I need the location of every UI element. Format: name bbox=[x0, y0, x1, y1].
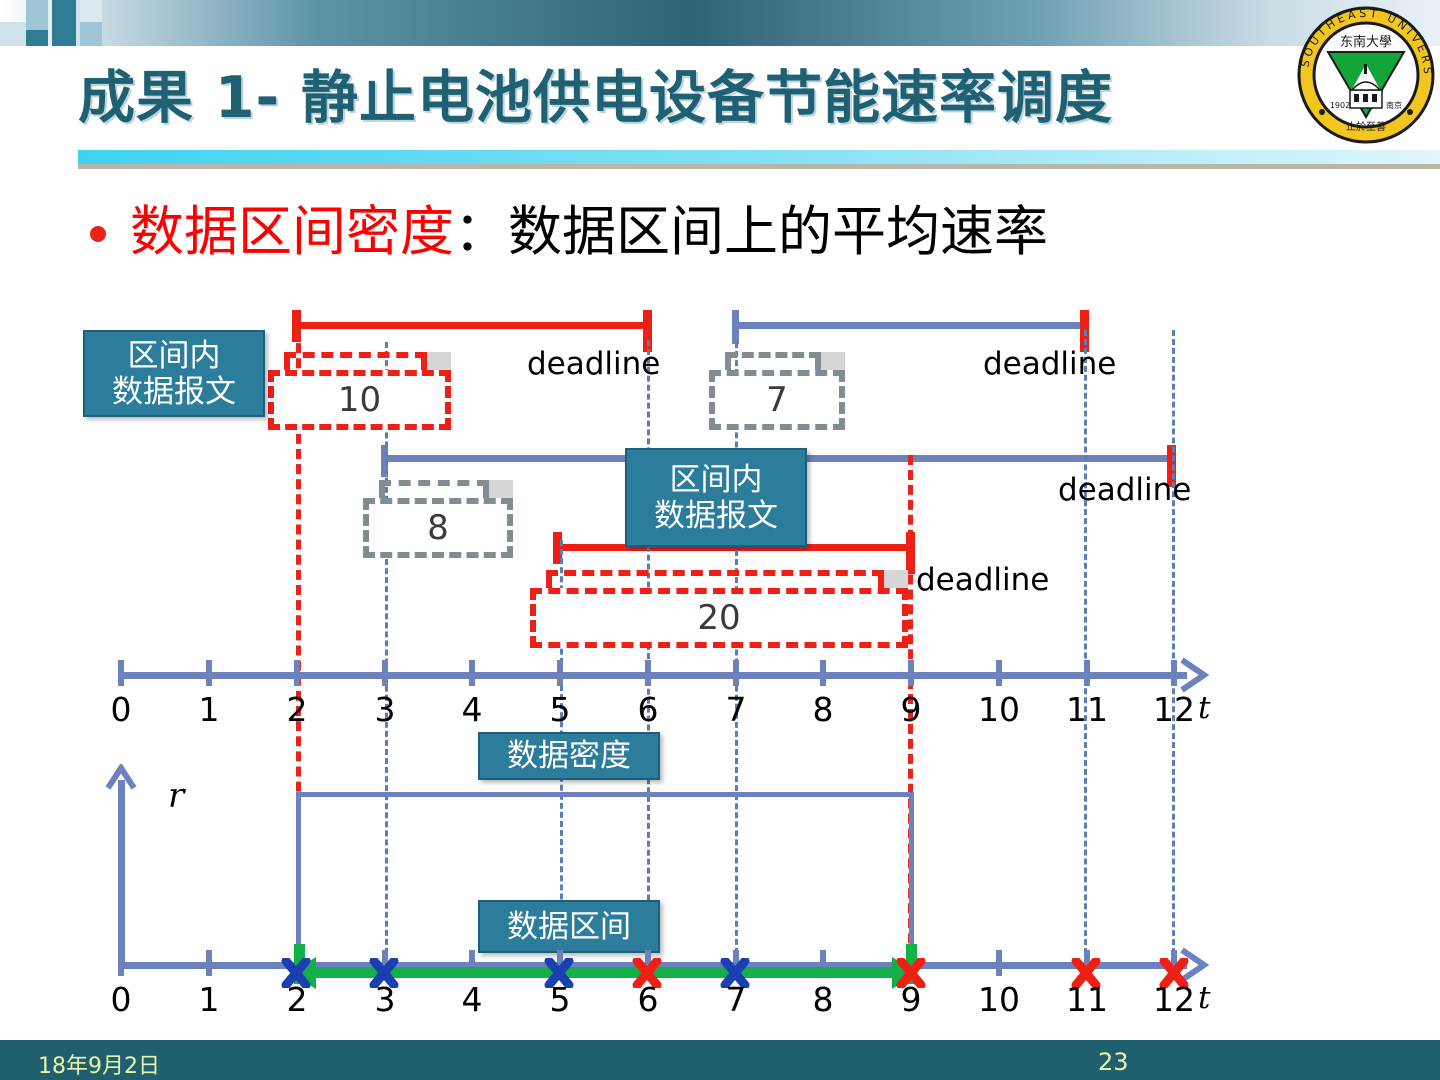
deadline-label-job2: deadline bbox=[983, 346, 1091, 383]
lower-ticklabel-12: 12 bbox=[1152, 980, 1196, 1019]
timeline-diagram: 10 7 8 20 deadline deadline deadline dea… bbox=[0, 290, 1440, 1030]
deco-square-3 bbox=[80, 0, 102, 22]
deco-square-2 bbox=[52, 0, 76, 46]
lower-ticklabel-6: 6 bbox=[626, 980, 670, 1019]
density-step-left-riser bbox=[296, 792, 301, 964]
packet-box-7-lid bbox=[725, 352, 821, 372]
lower-axis-label-t: t bbox=[1198, 980, 1210, 1016]
callout-1-line1: 区间内 bbox=[128, 338, 221, 374]
deco-square-1 bbox=[26, 0, 48, 30]
upper-tick-5 bbox=[557, 660, 563, 686]
footer-date: 18年9月2日 bbox=[38, 1048, 160, 1080]
svg-text:南京: 南京 bbox=[1386, 100, 1402, 110]
job2-span-bar bbox=[735, 322, 1085, 329]
university-logo: 东南大學 1902 南京 止於至善 SOUTHEAST UNIVERSITY bbox=[1296, 2, 1436, 148]
lower-ticklabel-0: 0 bbox=[99, 980, 143, 1019]
upper-ticklabel-7: 7 bbox=[714, 690, 758, 729]
upper-ticklabel-4: 4 bbox=[450, 690, 494, 729]
upper-tick-1 bbox=[206, 660, 212, 686]
title-underline bbox=[78, 150, 1440, 164]
callout-2-line2: 数据报文 bbox=[654, 498, 778, 534]
header-band bbox=[0, 0, 1440, 46]
upper-tick-9 bbox=[908, 660, 914, 686]
lower-r-axis bbox=[118, 780, 125, 962]
lower-ticklabel-11: 11 bbox=[1065, 980, 1109, 1019]
footer-bar: 18年9月2日 23 bbox=[0, 1040, 1440, 1080]
callout-data-interval-label: 数据区间 bbox=[507, 909, 631, 945]
packet-box-8-lid bbox=[379, 480, 489, 500]
upper-tick-3 bbox=[382, 660, 388, 686]
upper-axis-label-t: t bbox=[1198, 690, 1210, 726]
bullet-highlight: 数据区间密度 bbox=[130, 200, 454, 263]
footer-page-number: 23 bbox=[1098, 1048, 1129, 1076]
upper-ticklabel-6: 6 bbox=[626, 690, 670, 729]
density-step-top bbox=[296, 792, 914, 797]
lower-ticklabel-7: 7 bbox=[714, 980, 758, 1019]
lower-ticklabel-8: 8 bbox=[801, 980, 845, 1019]
bullet-dot-icon bbox=[90, 226, 106, 242]
upper-ticklabel-8: 8 bbox=[801, 690, 845, 729]
lower-axis-label-r: r bbox=[168, 776, 184, 816]
packet-box-8: 8 bbox=[363, 480, 513, 558]
lower-ticklabel-10: 10 bbox=[977, 980, 1021, 1019]
guide-line-t7 bbox=[735, 342, 738, 972]
upper-ticklabel-3: 3 bbox=[363, 690, 407, 729]
upper-tick-6 bbox=[645, 660, 651, 686]
callout-1-line2: 数据报文 bbox=[112, 374, 236, 410]
packet-box-10: 10 bbox=[268, 352, 451, 430]
packet-box-20-value: 20 bbox=[530, 588, 908, 648]
packet-box-20: 20 bbox=[530, 570, 908, 648]
upper-ticklabel-2: 2 bbox=[275, 690, 319, 729]
upper-ticklabel-11: 11 bbox=[1065, 690, 1109, 729]
deadline-label-job3: deadline bbox=[1058, 472, 1172, 509]
packet-box-8-value: 8 bbox=[363, 498, 513, 558]
deadline-label-job4: deadline bbox=[916, 562, 1026, 599]
job2-release-cap bbox=[732, 310, 739, 344]
deco-square-6 bbox=[26, 30, 48, 46]
upper-tick-10 bbox=[996, 660, 1002, 686]
bullet-rest: ：数据区间上的平均速率 bbox=[454, 200, 1048, 263]
page-title: 成果 1- 静止电池供电设备节能速率调度 bbox=[78, 52, 1113, 134]
upper-ticklabel-9: 9 bbox=[889, 690, 933, 729]
bullet-row: 数据区间密度：数据区间上的平均速率 bbox=[80, 196, 1380, 268]
deadline-label-job1: deadline bbox=[527, 346, 707, 383]
callout-packet-in-interval-1[interactable]: 区间内 数据报文 bbox=[83, 330, 265, 417]
deco-square-4 bbox=[80, 22, 102, 46]
lower-tick-10 bbox=[996, 950, 1002, 976]
upper-tick-7 bbox=[733, 660, 739, 686]
lower-ticklabel-3: 3 bbox=[363, 980, 407, 1019]
callout-data-density[interactable]: 数据密度 bbox=[478, 732, 660, 780]
job1-span-bar bbox=[296, 322, 648, 329]
upper-ticklabel-12: 12 bbox=[1152, 690, 1196, 729]
callout-2-line1: 区间内 bbox=[670, 462, 763, 498]
callout-packet-in-interval-2[interactable]: 区间内 数据报文 bbox=[625, 448, 807, 547]
upper-ticklabel-0: 0 bbox=[99, 690, 143, 729]
density-step-right-riser bbox=[909, 792, 914, 964]
callout-data-interval[interactable]: 数据区间 bbox=[478, 900, 660, 953]
packet-box-7-value: 7 bbox=[709, 370, 845, 430]
title-underline-secondary bbox=[78, 164, 1440, 169]
svg-text:止於至善: 止於至善 bbox=[1346, 120, 1386, 133]
lower-tick-0 bbox=[118, 950, 124, 976]
upper-tick-4 bbox=[469, 660, 475, 686]
upper-tick-11 bbox=[1084, 660, 1090, 686]
upper-tick-2 bbox=[294, 660, 300, 686]
lower-ticklabel-9: 9 bbox=[889, 980, 933, 1019]
svg-text:1902: 1902 bbox=[1330, 101, 1350, 110]
lower-ticklabel-2: 2 bbox=[275, 980, 319, 1019]
deco-square-5 bbox=[0, 22, 26, 46]
packet-box-10-value: 10 bbox=[268, 370, 451, 430]
upper-ticklabel-10: 10 bbox=[977, 690, 1021, 729]
guide-line-t6 bbox=[647, 340, 650, 972]
guide-line-t12 bbox=[1172, 330, 1175, 972]
upper-ticklabel-5: 5 bbox=[538, 690, 582, 729]
lower-ticklabel-4: 4 bbox=[450, 980, 494, 1019]
bullet-text: 数据区间密度：数据区间上的平均速率 bbox=[130, 196, 1048, 268]
lower-ticklabel-1: 1 bbox=[187, 980, 231, 1019]
upper-tick-0 bbox=[118, 660, 124, 686]
svg-text:东南大學: 东南大學 bbox=[1340, 34, 1392, 50]
lower-tick-1 bbox=[206, 950, 212, 976]
packet-box-20-lid bbox=[546, 570, 884, 590]
upper-time-axis bbox=[121, 672, 1187, 679]
upper-tick-8 bbox=[820, 660, 826, 686]
packet-box-10-lid bbox=[284, 352, 427, 372]
guide-line-t3 bbox=[385, 342, 388, 972]
callout-data-density-label: 数据密度 bbox=[507, 738, 631, 774]
guide-line-t11 bbox=[1084, 330, 1087, 972]
lower-r-axis-arrowhead bbox=[104, 764, 142, 800]
packet-box-7: 7 bbox=[709, 352, 845, 430]
lower-ticklabel-5: 5 bbox=[538, 980, 582, 1019]
upper-tick-12 bbox=[1171, 660, 1177, 686]
upper-ticklabel-1: 1 bbox=[187, 690, 231, 729]
